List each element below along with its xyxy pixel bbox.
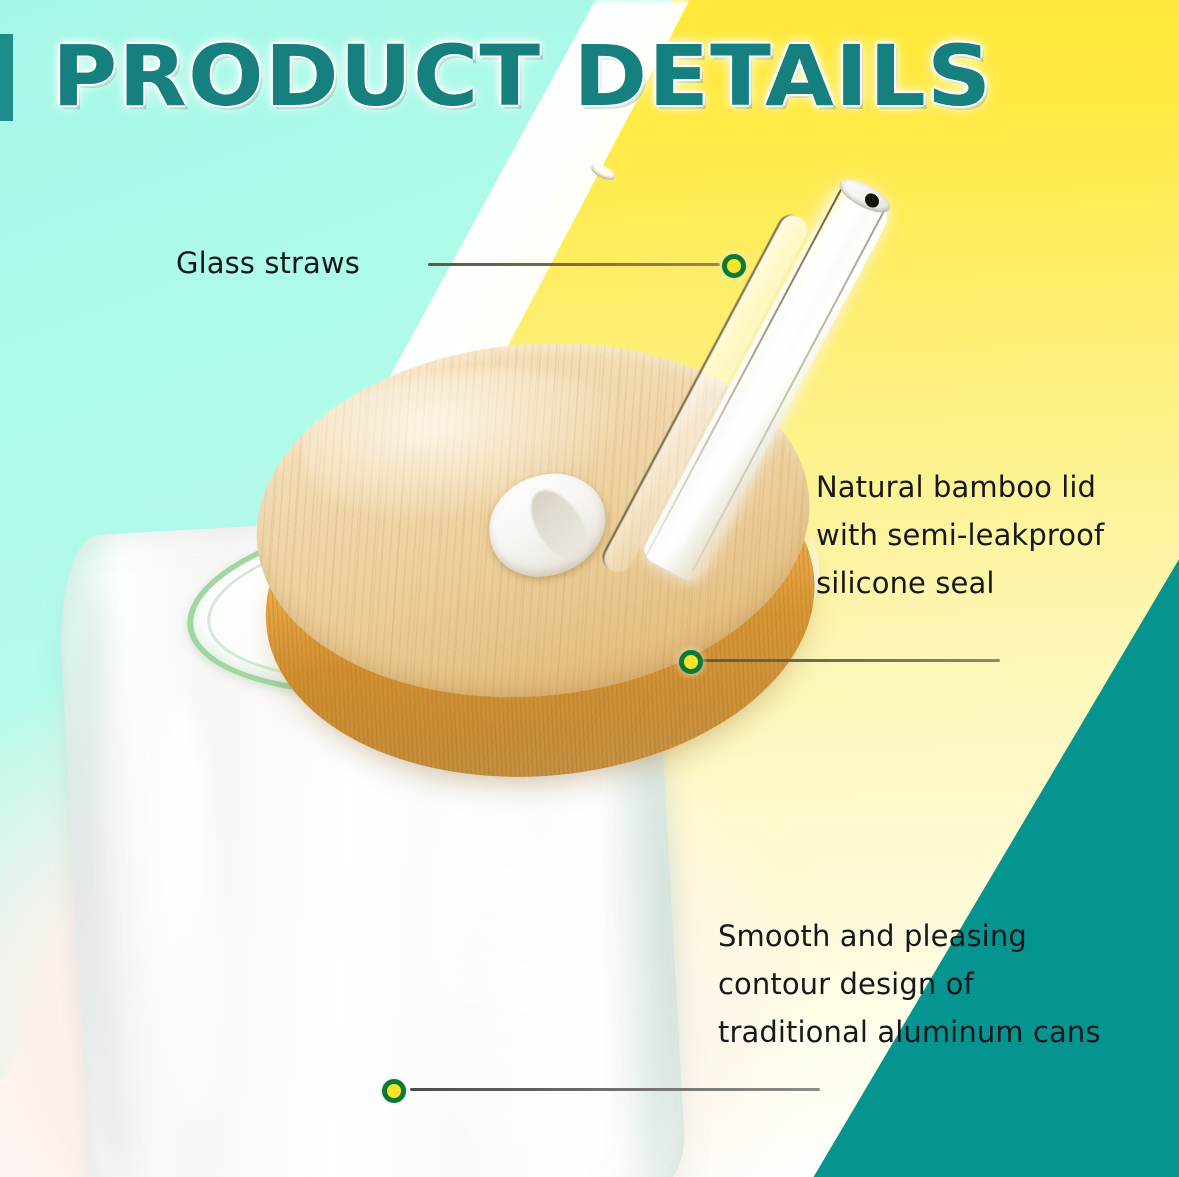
infographic-canvas: PRODUCT DETAILS Glass straws Natural bam… — [0, 0, 1179, 1177]
callout-line-contour-design — [410, 1088, 820, 1091]
page-title: PRODUCT DETAILS — [52, 26, 992, 126]
callout-line-bamboo-lid — [700, 659, 1000, 662]
callout-line-glass-straws — [428, 263, 720, 266]
callout-label-bamboo-lid: Natural bamboo lid with semi-leakproof s… — [816, 463, 1104, 607]
callout-label-contour-design: Smooth and pleasing contour design of tr… — [718, 912, 1101, 1056]
callout-dot-glass-straws[interactable] — [722, 254, 746, 278]
callout-label-glass-straws: Glass straws — [176, 243, 360, 283]
callout-dot-contour-design[interactable] — [382, 1079, 406, 1103]
callout-dot-bamboo-lid[interactable] — [679, 650, 703, 674]
title-accent-bar — [0, 34, 13, 121]
header: PRODUCT DETAILS — [0, 0, 1179, 150]
glass-straw-secondary-tip — [589, 161, 618, 183]
